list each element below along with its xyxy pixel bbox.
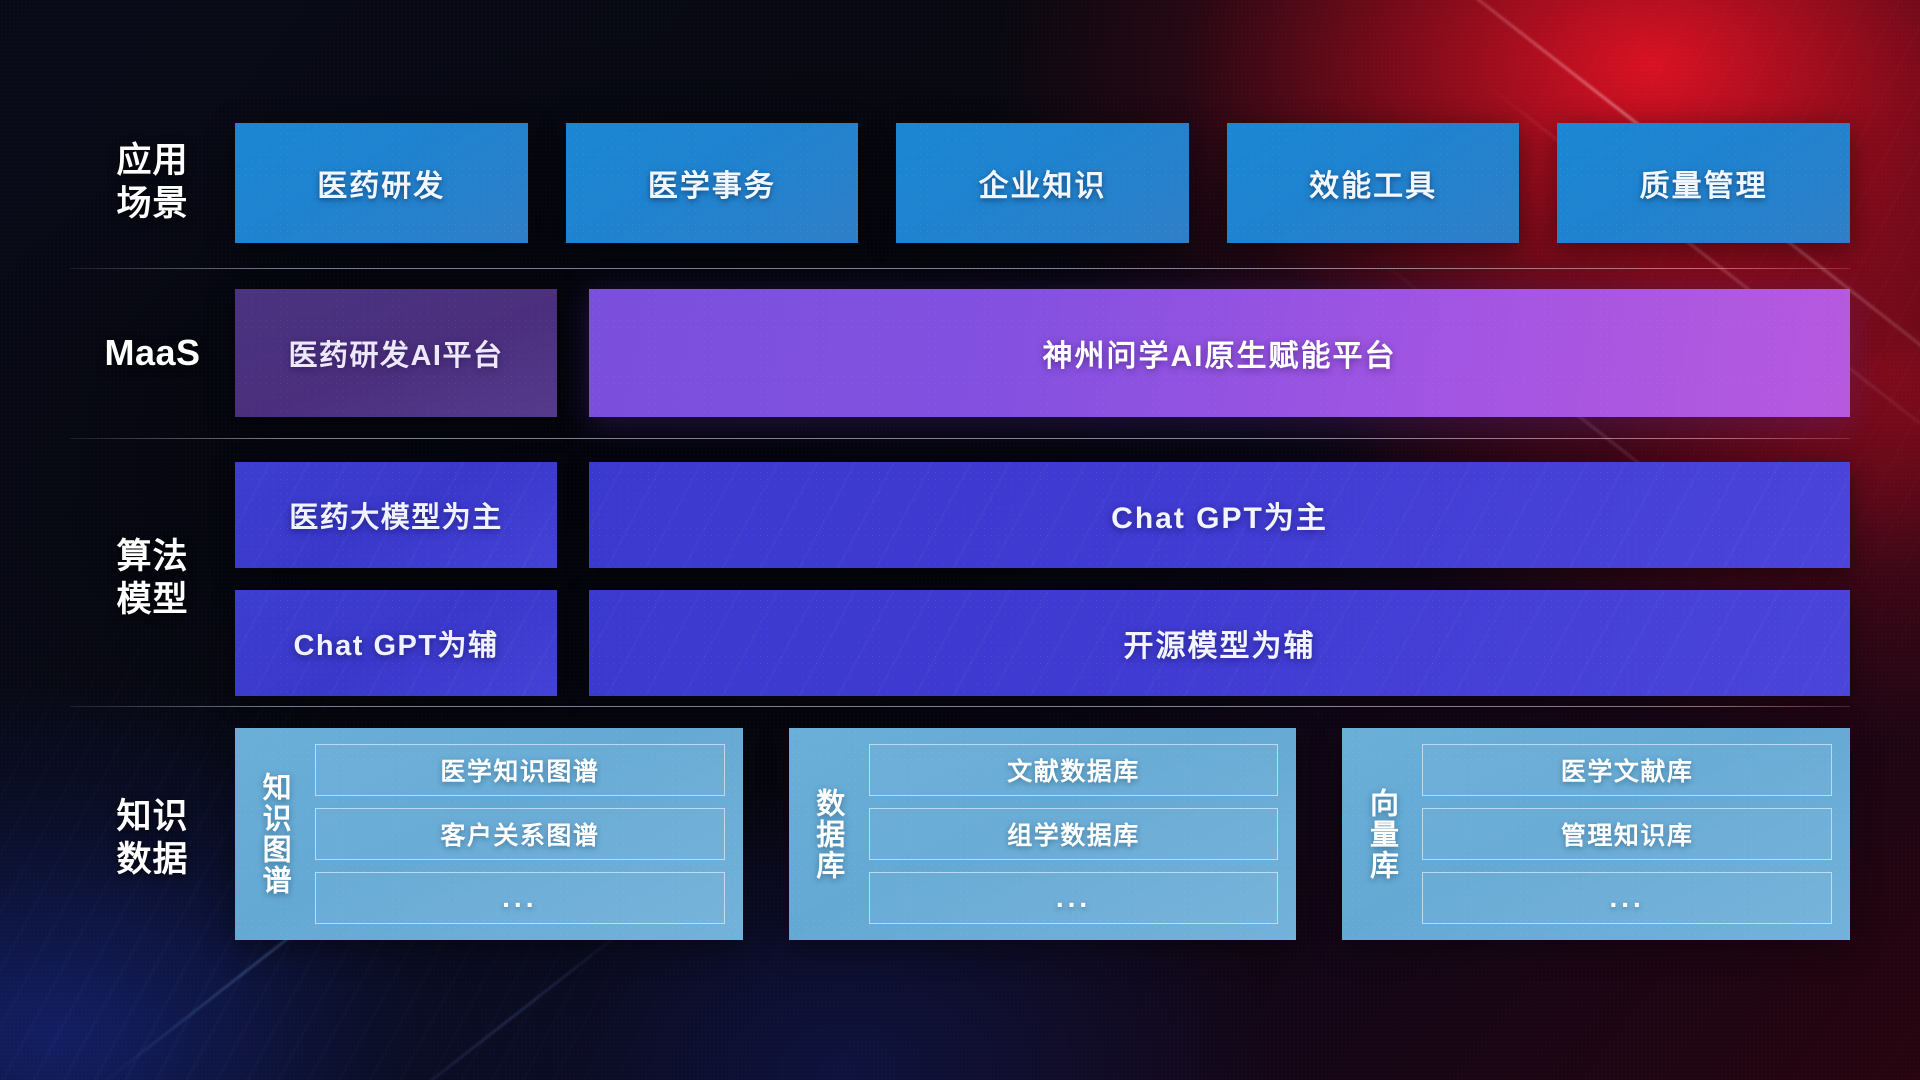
algo-card-label: Chat GPT为主 — [1111, 493, 1328, 537]
knowledge-item[interactable]: 医学知识图谱 — [315, 744, 725, 796]
row-label-maas: MaaS — [70, 331, 235, 375]
divider-algo-knowledge — [70, 706, 1850, 707]
row-label-application-scenarios: 应用 场景 — [70, 140, 235, 225]
knowledge-item[interactable]: 组学数据库 — [869, 808, 1279, 860]
algo-card-opensource-secondary[interactable]: 开源模型为辅 — [589, 590, 1850, 696]
algo-card-label: Chat GPT为辅 — [293, 622, 498, 664]
row-label-algorithm-models: 算法 模型 — [70, 536, 235, 621]
maas-strip: 医药研发AI平台 神州问学AI原生赋能平台 — [235, 289, 1850, 417]
knowledge-item[interactable]: 客户关系图谱 — [315, 808, 725, 860]
algorithm-models-body: 医药大模型为主 Chat GPT为主 Chat GPT为辅 开源模型为辅 — [235, 462, 1850, 696]
application-scenarios-body: 医药研发 医学事务 企业知识 效能工具 质量管理 — [235, 123, 1850, 243]
knowledge-data-body: 知识图谱 医学知识图谱 客户关系图谱 ... 数据库 文献数据库 组学数据库 .… — [235, 728, 1850, 940]
app-card-medical-affairs[interactable]: 医学事务 — [566, 123, 859, 243]
maas-body: 医药研发AI平台 神州问学AI原生赋能平台 — [235, 289, 1850, 417]
app-card-efficiency-tools[interactable]: 效能工具 — [1227, 123, 1520, 243]
app-card-enterprise-knowledge[interactable]: 企业知识 — [896, 123, 1189, 243]
app-card-label: 医药研发 — [317, 161, 445, 205]
knowledge-group-database[interactable]: 数据库 文献数据库 组学数据库 ... — [789, 728, 1297, 940]
algo-card-medicine-llm-primary[interactable]: 医药大模型为主 — [235, 462, 557, 568]
divider-apps-maas — [70, 268, 1850, 269]
algo-card-label: 医药大模型为主 — [289, 494, 503, 536]
knowledge-item-more[interactable]: ... — [1422, 872, 1832, 924]
algo-card-label: 开源模型为辅 — [1124, 621, 1316, 665]
app-card-label: 企业知识 — [978, 161, 1106, 205]
algorithm-line-primary: 医药大模型为主 Chat GPT为主 — [235, 462, 1850, 568]
row-application-scenarios: 应用 场景 医药研发 医学事务 企业知识 效能工具 — [70, 118, 1850, 248]
app-card-quality-management[interactable]: 质量管理 — [1557, 123, 1850, 243]
application-card-strip: 医药研发 医学事务 企业知识 效能工具 质量管理 — [235, 123, 1850, 243]
knowledge-item-more[interactable]: ... — [869, 872, 1279, 924]
knowledge-group-title: 向量库 — [1354, 744, 1408, 924]
row-knowledge-data: 知识 数据 知识图谱 医学知识图谱 客户关系图谱 ... 数据库 — [70, 728, 1850, 978]
row-maas: MaaS 医药研发AI平台 神州问学AI原生赋能平台 — [70, 288, 1850, 418]
algorithm-line-secondary: Chat GPT为辅 开源模型为辅 — [235, 590, 1850, 696]
knowledge-item-list: 医学文献库 管理知识库 ... — [1422, 744, 1832, 924]
row-algorithm-models: 算法 模型 医药大模型为主 Chat GPT为主 Chat GPT为辅 — [70, 460, 1850, 698]
app-card-label: 医学事务 — [648, 161, 776, 205]
knowledge-item[interactable]: 医学文献库 — [1422, 744, 1832, 796]
knowledge-group-strip: 知识图谱 医学知识图谱 客户关系图谱 ... 数据库 文献数据库 组学数据库 .… — [235, 728, 1850, 940]
diagram-canvas: 应用 场景 医药研发 医学事务 企业知识 效能工具 — [0, 0, 1920, 1080]
knowledge-group-title: 知识图谱 — [247, 744, 301, 924]
app-card-label: 质量管理 — [1640, 161, 1768, 205]
algorithm-stack: 医药大模型为主 Chat GPT为主 Chat GPT为辅 开源模型为辅 — [235, 462, 1850, 696]
maas-card-shenzhou-wenxue-platform[interactable]: 神州问学AI原生赋能平台 — [589, 289, 1850, 417]
maas-card-label: 医药研发AI平台 — [288, 332, 503, 374]
app-card-label: 效能工具 — [1309, 161, 1437, 205]
knowledge-group-title: 数据库 — [801, 744, 855, 924]
algo-card-chatgpt-secondary[interactable]: Chat GPT为辅 — [235, 590, 557, 696]
knowledge-group-vector-store[interactable]: 向量库 医学文献库 管理知识库 ... — [1342, 728, 1850, 940]
algo-card-chatgpt-primary[interactable]: Chat GPT为主 — [589, 462, 1850, 568]
knowledge-item[interactable]: 管理知识库 — [1422, 808, 1832, 860]
knowledge-item-list: 医学知识图谱 客户关系图谱 ... — [315, 744, 725, 924]
maas-card-label: 神州问学AI原生赋能平台 — [1043, 331, 1397, 375]
knowledge-item[interactable]: 文献数据库 — [869, 744, 1279, 796]
knowledge-item-list: 文献数据库 组学数据库 ... — [869, 744, 1279, 924]
app-card-medicine-rd[interactable]: 医药研发 — [235, 123, 528, 243]
knowledge-group-knowledge-graph[interactable]: 知识图谱 医学知识图谱 客户关系图谱 ... — [235, 728, 743, 940]
divider-maas-algo — [70, 438, 1850, 439]
row-label-knowledge-data: 知识 数据 — [70, 796, 235, 881]
maas-card-medicine-ai-platform[interactable]: 医药研发AI平台 — [235, 289, 557, 417]
knowledge-item-more[interactable]: ... — [315, 872, 725, 924]
